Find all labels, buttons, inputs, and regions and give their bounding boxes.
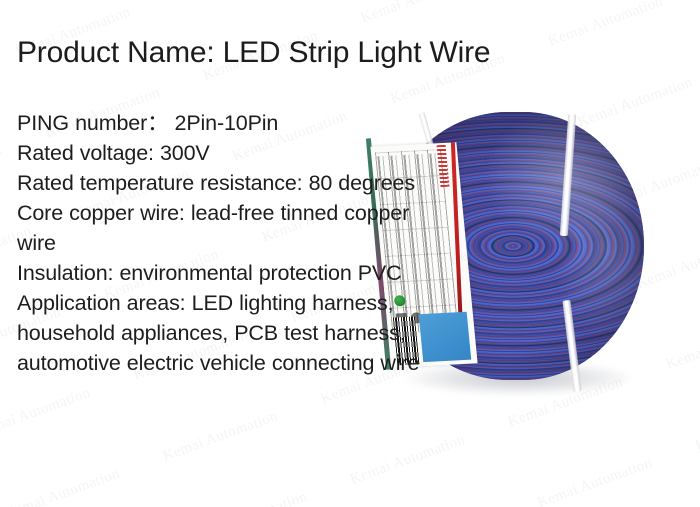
spec-line-ping-number: PING number： 2Pin-10Pin (17, 108, 417, 138)
watermark-text: Kemai Automation (190, 473, 377, 507)
watermark-text: Kemai Automation (161, 392, 348, 507)
spec-list: PING number： 2Pin-10Pin Rated voltage: 3… (17, 108, 417, 378)
spec-line-insulation: Insulation: environmental protection PVC (17, 258, 417, 288)
watermark-text: Kemai Automation (3, 450, 190, 507)
spec-line-temperature: Rated temperature resistance: 80 degrees (17, 168, 417, 198)
watermark-text: Kemai Automation (329, 0, 516, 11)
watermark-text: Kemai Automation (517, 0, 700, 35)
watermark-text: Kemai Automation (546, 0, 700, 116)
product-spec-image: Product Name: LED Strip Light Wire PING … (0, 0, 700, 507)
spec-line-rated-voltage: Rated voltage: 300V (17, 138, 417, 168)
watermark-text: Kemai Automation (348, 415, 535, 507)
page-title: Product Name: LED Strip Light Wire (17, 38, 490, 68)
spec-line-applications: Application areas: LED lighting harness,… (17, 288, 487, 378)
watermark-text: Kemai Automation (693, 381, 700, 507)
spec-line-core-copper-wire: Core copper wire: lead-free tinned coppe… (17, 198, 417, 258)
watermark-text: Kemai Automation (0, 369, 161, 507)
watermark-text: Kemai Automation (535, 439, 700, 507)
watermark-text: Kemai Automation (664, 301, 700, 439)
watermark-text: Kemai Automation (378, 496, 565, 507)
